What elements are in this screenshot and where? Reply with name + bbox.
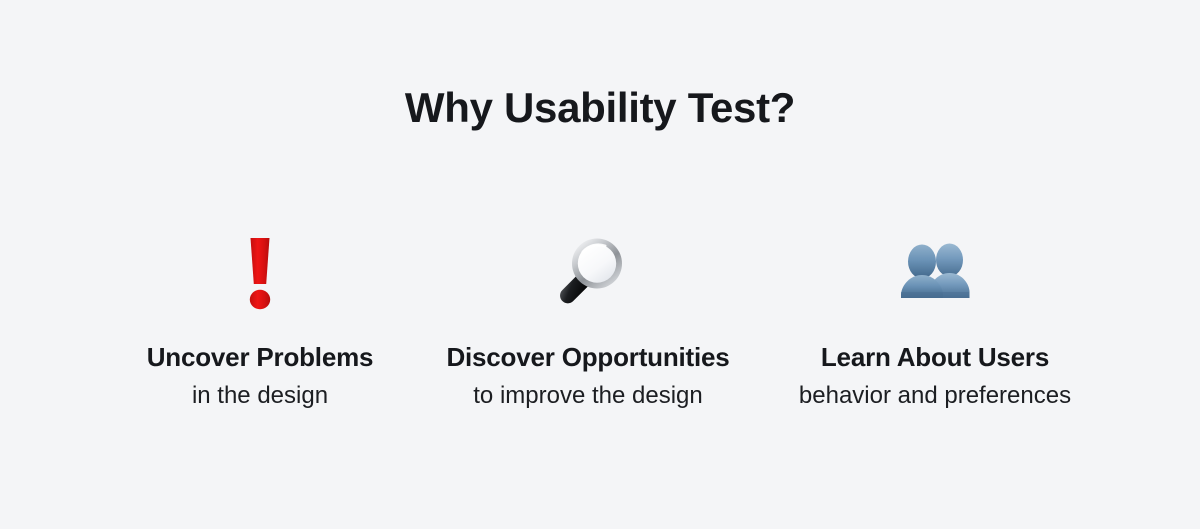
benefit-heading: Discover Opportunities — [423, 342, 753, 373]
page-title: Why Usability Test? — [0, 84, 1200, 132]
benefit-column-discover-opportunities: Discover Opportunities to improve the de… — [423, 225, 753, 411]
benefit-column-uncover-problems: Uncover Problems in the design — [97, 225, 423, 411]
benefit-subtitle: in the design — [97, 381, 423, 411]
exclamation-mark-icon — [97, 225, 423, 320]
magnifying-glass-icon — [423, 225, 753, 320]
two-people-busts-icon — [770, 225, 1100, 320]
benefit-column-learn-about-users: Learn About Users behavior and preferenc… — [770, 225, 1100, 411]
slide-canvas: Why Usability Test? — [0, 0, 1200, 529]
benefit-heading: Uncover Problems — [97, 342, 423, 373]
benefit-subtitle: to improve the design — [423, 381, 753, 411]
benefits-columns: Uncover Problems in the design — [0, 225, 1200, 411]
benefit-heading: Learn About Users — [770, 342, 1100, 373]
benefit-subtitle: behavior and preferences — [770, 381, 1100, 411]
